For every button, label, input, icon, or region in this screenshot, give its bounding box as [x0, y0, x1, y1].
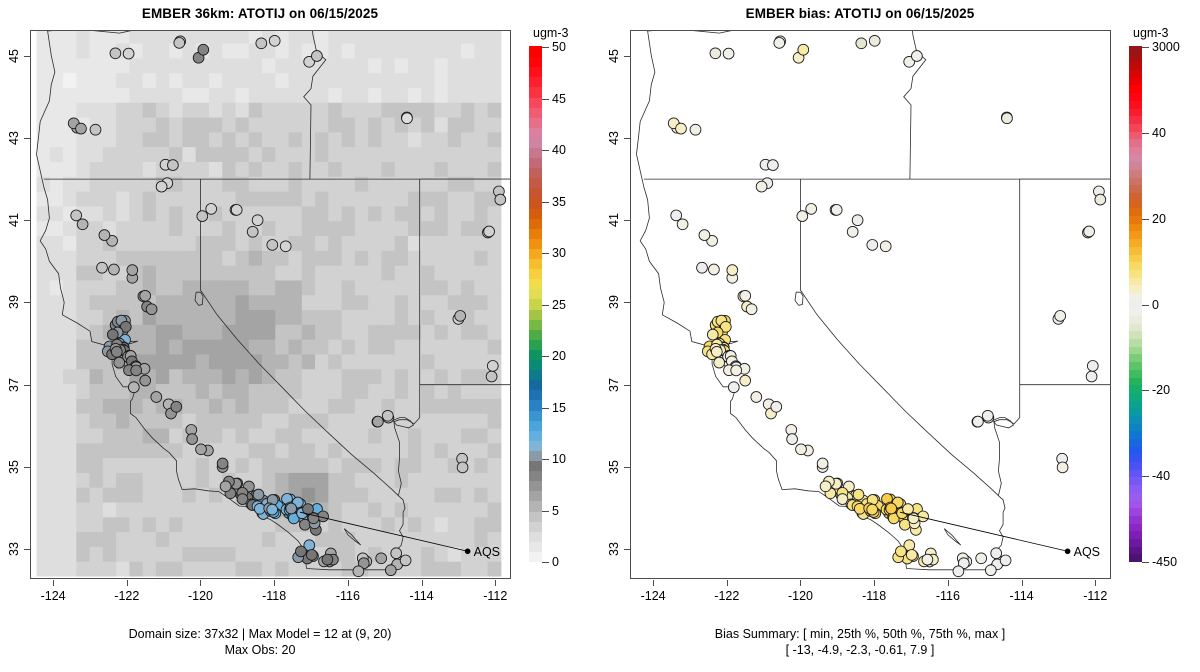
- raster-cell: [368, 487, 382, 502]
- raster-cell: [328, 383, 342, 398]
- colorbar-segment: [529, 67, 542, 78]
- station-marker[interactable]: [896, 546, 907, 557]
- raster-cell: [63, 517, 77, 532]
- colorbar-segment: [529, 390, 542, 401]
- station-marker[interactable]: [197, 211, 208, 222]
- raster-cell: [90, 383, 104, 398]
- station-marker[interactable]: [457, 462, 468, 473]
- station-marker[interactable]: [110, 48, 121, 59]
- colorbar-segment: [1129, 285, 1142, 293]
- raster-cell: [275, 458, 289, 473]
- raster-cell: [488, 487, 502, 502]
- raster-cell: [249, 280, 263, 295]
- station-marker[interactable]: [709, 264, 720, 275]
- station-marker[interactable]: [710, 48, 721, 59]
- station-marker[interactable]: [156, 181, 167, 192]
- raster-cell: [90, 532, 104, 547]
- raster-cell: [262, 458, 276, 473]
- x-tick-label: -120: [788, 589, 813, 603]
- raster-cell: [90, 428, 104, 443]
- raster-cell: [421, 265, 435, 280]
- raster-cell: [474, 443, 488, 458]
- raster-cell: [50, 295, 64, 310]
- station-marker[interactable]: [296, 546, 307, 557]
- station-marker[interactable]: [817, 458, 828, 469]
- y-tick: [24, 56, 30, 57]
- raster-cell: [63, 250, 77, 265]
- raster-cell: [381, 117, 395, 132]
- raster-cell: [434, 428, 448, 443]
- colorbar-tick-label: 20: [552, 349, 566, 363]
- raster-cell: [236, 339, 250, 354]
- raster-cell: [315, 383, 329, 398]
- raster-cell: [408, 487, 422, 502]
- raster-cell: [448, 502, 462, 517]
- raster-cell: [129, 561, 143, 576]
- raster-cell: [395, 265, 409, 280]
- station-marker[interactable]: [697, 262, 708, 273]
- raster-cell: [289, 176, 303, 191]
- map-plot-model[interactable]: AQS: [30, 30, 511, 579]
- station-marker[interactable]: [973, 416, 984, 427]
- raster-cell: [342, 221, 356, 236]
- raster-cell: [289, 73, 303, 88]
- station-marker[interactable]: [751, 392, 762, 403]
- raster-cell: [421, 117, 435, 132]
- raster-cell: [488, 517, 502, 532]
- station-marker[interactable]: [991, 548, 1002, 559]
- station-marker[interactable]: [976, 553, 987, 564]
- raster-cell: [302, 398, 316, 413]
- station-marker[interactable]: [280, 241, 291, 252]
- raster-cell: [474, 309, 488, 324]
- raster-cell: [315, 31, 329, 44]
- raster-cell: [275, 443, 289, 458]
- raster-cell: [355, 132, 369, 147]
- station-marker[interactable]: [385, 565, 396, 576]
- station-marker[interactable]: [306, 550, 317, 561]
- raster-cell: [50, 309, 64, 324]
- station-marker[interactable]: [123, 48, 134, 59]
- colorbar-segment: [529, 450, 542, 461]
- station-marker[interactable]: [768, 160, 779, 171]
- raster-cell: [381, 383, 395, 398]
- colorbar-segment: [529, 87, 542, 98]
- colorbar-segment: [1129, 339, 1142, 347]
- raster-cell: [262, 280, 276, 295]
- raster-cell: [328, 487, 342, 502]
- raster-cell: [488, 43, 502, 58]
- station-marker[interactable]: [376, 553, 387, 564]
- raster-cell: [328, 295, 342, 310]
- station-marker[interactable]: [774, 38, 785, 49]
- raster-cell: [315, 176, 329, 191]
- raster-cell: [182, 354, 196, 369]
- colorbar-tick: [1142, 47, 1149, 48]
- station-marker[interactable]: [806, 204, 817, 215]
- raster-cell: [196, 250, 210, 265]
- raster-cell: [474, 147, 488, 162]
- raster-cell: [302, 221, 316, 236]
- station-marker[interactable]: [906, 550, 917, 561]
- raster-cell: [196, 354, 210, 369]
- raster-cell: [302, 280, 316, 295]
- raster-cell: [196, 191, 210, 206]
- raster-cell: [222, 502, 236, 517]
- colorbar-segment: [1129, 185, 1142, 193]
- raster-cell: [222, 443, 236, 458]
- raster-cell: [76, 250, 90, 265]
- raster-cell: [116, 250, 130, 265]
- raster-cell: [262, 354, 276, 369]
- raster-cell: [474, 132, 488, 147]
- station-marker[interactable]: [985, 565, 996, 576]
- station-marker[interactable]: [1084, 226, 1095, 237]
- station-marker[interactable]: [127, 265, 138, 276]
- station-marker[interactable]: [912, 51, 923, 62]
- station-marker[interactable]: [146, 304, 157, 315]
- colorbar-segment: [529, 339, 542, 350]
- station-marker[interactable]: [820, 481, 831, 492]
- raster-cell: [103, 132, 117, 147]
- colorbar-segment: [529, 471, 542, 482]
- colorbar-segment: [1129, 77, 1142, 85]
- station-marker[interactable]: [982, 410, 993, 421]
- raster-cell: [421, 87, 435, 102]
- raster-cell: [222, 87, 236, 102]
- raster-cell: [196, 561, 210, 576]
- raster-cell: [129, 532, 143, 547]
- raster-cell: [461, 117, 475, 132]
- raster-cell: [37, 561, 51, 576]
- raster-cell: [328, 102, 342, 117]
- raster-cell: [37, 398, 51, 413]
- raster-cell: [37, 354, 51, 369]
- station-marker[interactable]: [353, 566, 364, 577]
- station-marker[interactable]: [486, 371, 497, 382]
- station-marker[interactable]: [796, 444, 807, 455]
- station-marker[interactable]: [71, 210, 82, 221]
- raster-cell: [209, 561, 223, 576]
- station-marker[interactable]: [1002, 113, 1013, 124]
- station-marker[interactable]: [771, 401, 782, 412]
- station-marker[interactable]: [723, 48, 734, 59]
- station-marker[interactable]: [76, 123, 87, 134]
- raster-cell: [143, 250, 157, 265]
- raster-cell: [196, 383, 210, 398]
- station-marker[interactable]: [312, 51, 323, 62]
- station-marker[interactable]: [731, 365, 742, 376]
- raster-cell: [448, 265, 462, 280]
- colorbar-segment: [1129, 554, 1142, 562]
- raster-cell: [129, 191, 143, 206]
- station-marker[interactable]: [1087, 361, 1098, 372]
- station-marker[interactable]: [198, 44, 209, 55]
- raster-cell: [76, 546, 90, 561]
- station-marker[interactable]: [711, 346, 722, 357]
- raster-cell: [249, 561, 263, 576]
- raster-cell: [434, 561, 448, 576]
- station-marker[interactable]: [174, 38, 185, 49]
- station-marker[interactable]: [953, 566, 964, 577]
- station-marker[interactable]: [699, 230, 710, 241]
- station-marker[interactable]: [867, 504, 878, 515]
- station-marker[interactable]: [373, 416, 384, 427]
- station-marker[interactable]: [247, 226, 258, 237]
- station-marker[interactable]: [97, 262, 108, 273]
- raster-cell: [156, 354, 170, 369]
- station-marker[interactable]: [168, 160, 179, 171]
- raster-cell: [421, 176, 435, 191]
- station-marker[interactable]: [171, 401, 182, 412]
- raster-cell: [275, 117, 289, 132]
- raster-cell: [342, 176, 356, 191]
- raster-cell: [156, 250, 170, 265]
- station-marker[interactable]: [382, 410, 393, 421]
- raster-cell: [461, 295, 475, 310]
- station-marker[interactable]: [671, 210, 682, 221]
- station-marker[interactable]: [267, 240, 278, 251]
- station-marker[interactable]: [1057, 462, 1068, 473]
- station-marker[interactable]: [455, 311, 466, 322]
- raster-cell: [355, 161, 369, 176]
- raster-cell: [222, 73, 236, 88]
- raster-cell: [368, 73, 382, 88]
- raster-cell: [395, 324, 409, 339]
- colorbar-segment: [1129, 546, 1142, 554]
- raster-cell: [236, 546, 250, 561]
- y-tick: [24, 220, 30, 221]
- station-marker[interactable]: [869, 35, 880, 46]
- raster-cell: [182, 532, 196, 547]
- station-marker[interactable]: [831, 205, 842, 216]
- raster-cell: [448, 191, 462, 206]
- raster-cell: [328, 191, 342, 206]
- station-marker[interactable]: [187, 434, 198, 445]
- raster-cell: [76, 73, 90, 88]
- raster-cell: [236, 73, 250, 88]
- station-marker[interactable]: [206, 204, 217, 215]
- raster-cell: [156, 132, 170, 147]
- station-marker[interactable]: [231, 205, 242, 216]
- station-marker[interactable]: [131, 365, 142, 376]
- aqs-leader-line: [900, 512, 1068, 551]
- station-marker[interactable]: [99, 230, 110, 241]
- station-marker[interactable]: [267, 504, 278, 515]
- station-marker[interactable]: [196, 444, 207, 455]
- station-marker[interactable]: [886, 503, 897, 514]
- station-marker[interactable]: [1086, 371, 1097, 382]
- raster-cell: [262, 295, 276, 310]
- raster-cell: [196, 413, 210, 428]
- station-marker[interactable]: [256, 38, 267, 49]
- raster-cell: [434, 532, 448, 547]
- raster-cell: [90, 102, 104, 117]
- raster-cell: [302, 339, 316, 354]
- raster-cell: [249, 428, 263, 443]
- station-marker[interactable]: [400, 555, 411, 566]
- station-marker[interactable]: [151, 392, 162, 403]
- raster-cell: [129, 31, 143, 44]
- aqs-dot-icon: [465, 548, 471, 554]
- station-marker[interactable]: [322, 554, 333, 565]
- colorbar-tick-label: 0: [1152, 298, 1159, 312]
- colorbar-segment: [529, 541, 542, 552]
- raster-cell: [289, 250, 303, 265]
- station-marker[interactable]: [128, 382, 139, 393]
- raster-cell: [90, 487, 104, 502]
- station-marker[interactable]: [853, 489, 864, 500]
- raster-cell: [302, 132, 316, 147]
- colorbar-segment: [529, 309, 542, 320]
- raster-cell: [236, 428, 250, 443]
- raster-cell: [262, 428, 276, 443]
- raster-cell: [76, 161, 90, 176]
- raster-cell: [37, 235, 51, 250]
- station-marker[interactable]: [269, 35, 280, 46]
- raster-cell: [129, 73, 143, 88]
- raster-cell: [315, 191, 329, 206]
- map-plot-bias[interactable]: AQS: [630, 30, 1111, 579]
- raster-cell: [236, 117, 250, 132]
- station-marker[interactable]: [746, 304, 757, 315]
- station-marker[interactable]: [217, 458, 228, 469]
- station-marker[interactable]: [253, 489, 264, 500]
- colorbar-segment: [529, 279, 542, 290]
- raster-cell: [103, 532, 117, 547]
- raster-cell: [328, 31, 342, 44]
- raster-cell: [222, 132, 236, 147]
- raster-cell: [474, 458, 488, 473]
- panel-bias: EMBER bias: ATOTIJ on 06/15/2025 AQS 333…: [600, 0, 1200, 672]
- raster-cell: [50, 398, 64, 413]
- station-marker[interactable]: [798, 44, 809, 55]
- raster-cell: [249, 235, 263, 250]
- raster-cell: [143, 117, 157, 132]
- boundary-line: [801, 179, 999, 496]
- station-marker[interactable]: [1095, 194, 1106, 205]
- station-marker[interactable]: [484, 226, 495, 237]
- raster-cell: [249, 546, 263, 561]
- raster-cell: [488, 324, 502, 339]
- raster-cell: [474, 383, 488, 398]
- station-marker[interactable]: [111, 346, 122, 357]
- raster-cell: [355, 383, 369, 398]
- raster-cell: [50, 561, 64, 576]
- station-marker[interactable]: [487, 361, 498, 372]
- station-marker[interactable]: [220, 481, 231, 492]
- station-marker[interactable]: [880, 241, 891, 252]
- raster-cell: [103, 472, 117, 487]
- station-marker[interactable]: [140, 290, 151, 301]
- station-marker[interactable]: [140, 375, 151, 386]
- station-marker[interactable]: [847, 226, 858, 237]
- station-marker[interactable]: [1055, 311, 1066, 322]
- raster-cell: [275, 250, 289, 265]
- raster-cell: [143, 413, 157, 428]
- raster-cell: [169, 295, 183, 310]
- raster-cell: [236, 324, 250, 339]
- raster-cell: [328, 532, 342, 547]
- raster-cell: [289, 324, 303, 339]
- raster-cell: [129, 117, 143, 132]
- raster-cell: [249, 58, 263, 73]
- station-marker[interactable]: [707, 329, 718, 340]
- station-marker[interactable]: [286, 503, 297, 514]
- raster-cell: [434, 161, 448, 176]
- raster-cell: [156, 235, 170, 250]
- colorbar-segment: [1129, 292, 1142, 300]
- station-marker[interactable]: [676, 123, 687, 134]
- station-marker[interactable]: [402, 113, 413, 124]
- raster-cell: [50, 43, 64, 58]
- station-marker[interactable]: [114, 357, 125, 368]
- raster-cell: [421, 102, 435, 117]
- raster-cell: [302, 206, 316, 221]
- station-marker[interactable]: [714, 357, 725, 368]
- raster-cell: [434, 546, 448, 561]
- colorbar-segment: [1129, 100, 1142, 108]
- raster-cell: [90, 309, 104, 324]
- station-marker[interactable]: [252, 215, 263, 226]
- station-marker[interactable]: [90, 124, 101, 135]
- raster-cell: [37, 443, 51, 458]
- raster-cell: [461, 43, 475, 58]
- raster-cell: [222, 324, 236, 339]
- y-tick: [24, 549, 30, 550]
- station-marker[interactable]: [740, 290, 751, 301]
- raster-cell: [169, 235, 183, 250]
- raster-cell: [355, 73, 369, 88]
- raster-cell: [209, 73, 223, 88]
- raster-cell: [289, 413, 303, 428]
- station-marker[interactable]: [109, 264, 120, 275]
- station-marker[interactable]: [797, 211, 808, 222]
- station-marker[interactable]: [756, 181, 767, 192]
- raster-cell: [355, 487, 369, 502]
- station-marker[interactable]: [740, 375, 751, 386]
- station-marker[interactable]: [856, 38, 867, 49]
- station-marker[interactable]: [787, 434, 798, 445]
- raster-cell: [90, 369, 104, 384]
- colorbar-tick-label: 35: [552, 195, 566, 209]
- caption-max-obs: Max Obs: 20: [0, 643, 520, 658]
- raster-cell: [116, 413, 130, 428]
- raster-cell: [196, 324, 210, 339]
- station-marker[interactable]: [727, 265, 738, 276]
- raster-cell: [421, 280, 435, 295]
- raster-cell: [76, 235, 90, 250]
- station-marker[interactable]: [391, 548, 402, 559]
- boundary-line: [994, 179, 1020, 496]
- raster-cell: [488, 339, 502, 354]
- station-marker[interactable]: [1000, 555, 1011, 566]
- raster-cell: [63, 354, 77, 369]
- raster-cell: [461, 561, 475, 576]
- y-tick-label: 33: [7, 542, 21, 556]
- station-marker[interactable]: [107, 329, 118, 340]
- raster-cell: [448, 147, 462, 162]
- station-marker[interactable]: [922, 554, 933, 565]
- station-marker[interactable]: [867, 240, 878, 251]
- colorbar-segment: [529, 380, 542, 391]
- station-marker[interactable]: [728, 382, 739, 393]
- station-marker[interactable]: [495, 194, 506, 205]
- colorbar-segment: [529, 501, 542, 512]
- station-marker[interactable]: [852, 215, 863, 226]
- station-marker[interactable]: [690, 124, 701, 135]
- raster-cell: [196, 458, 210, 473]
